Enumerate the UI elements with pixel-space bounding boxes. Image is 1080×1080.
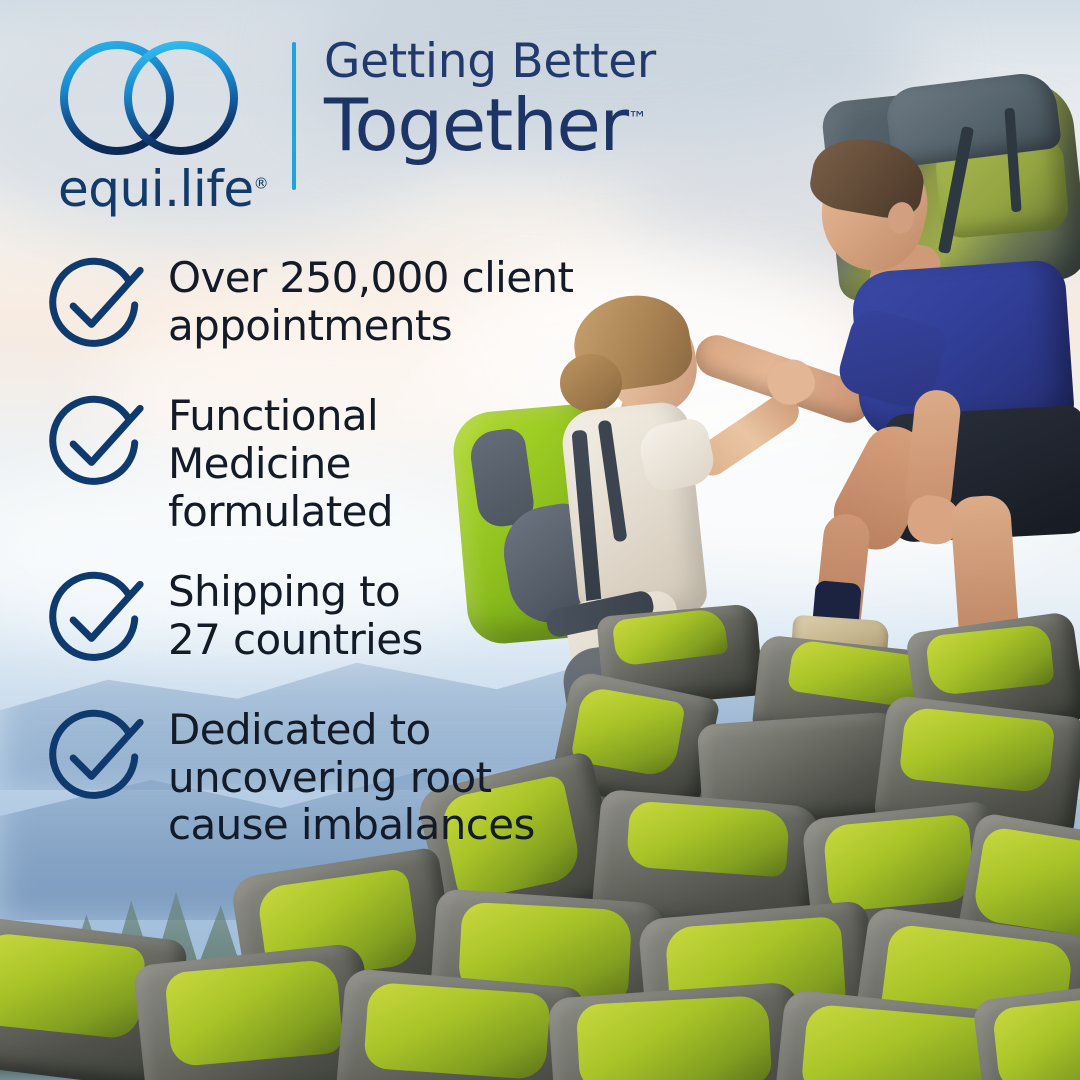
tagline-together: Together: [324, 83, 628, 167]
benefit-label: Shipping to 27 countries: [152, 562, 423, 664]
benefits-list: Over 250,000 client appointments Functio…: [44, 248, 604, 875]
check-circle-icon: [44, 704, 152, 812]
brand-logo[interactable]: equi.life®: [56, 36, 282, 214]
registered-trademark-symbol: ®: [254, 174, 269, 192]
two-overlapping-circles-icon: [56, 36, 242, 160]
brand-wordmark: equi.life®: [58, 164, 282, 214]
brand-lockup[interactable]: equi.life® Getting Better Together™: [56, 36, 656, 214]
benefit-item: Functional Medicine formulated: [44, 386, 604, 536]
brand-name: equi.life: [58, 160, 254, 218]
trademark-symbol: ™: [628, 108, 647, 130]
check-circle-icon: [44, 566, 152, 674]
benefit-label: Functional Medicine formulated: [152, 386, 393, 536]
benefit-label: Over 250,000 client appointments: [152, 248, 573, 350]
tagline-line-2: Together™: [324, 89, 656, 162]
vertical-divider: [292, 42, 296, 190]
benefit-item: Shipping to 27 countries: [44, 562, 604, 674]
tagline-line-1: Getting Better: [324, 38, 656, 87]
benefit-item: Over 250,000 client appointments: [44, 248, 604, 360]
tagline: Getting Better Together™: [324, 36, 656, 162]
benefit-label: Dedicated to uncovering root cause imbal…: [152, 700, 535, 850]
check-circle-icon: [44, 252, 152, 360]
check-circle-icon: [44, 390, 152, 498]
content-overlay: equi.life® Getting Better Together™ Over…: [0, 0, 1080, 1080]
marketing-advertisement: equi.life® Getting Better Together™ Over…: [0, 0, 1080, 1080]
benefit-item: Dedicated to uncovering root cause imbal…: [44, 700, 604, 850]
